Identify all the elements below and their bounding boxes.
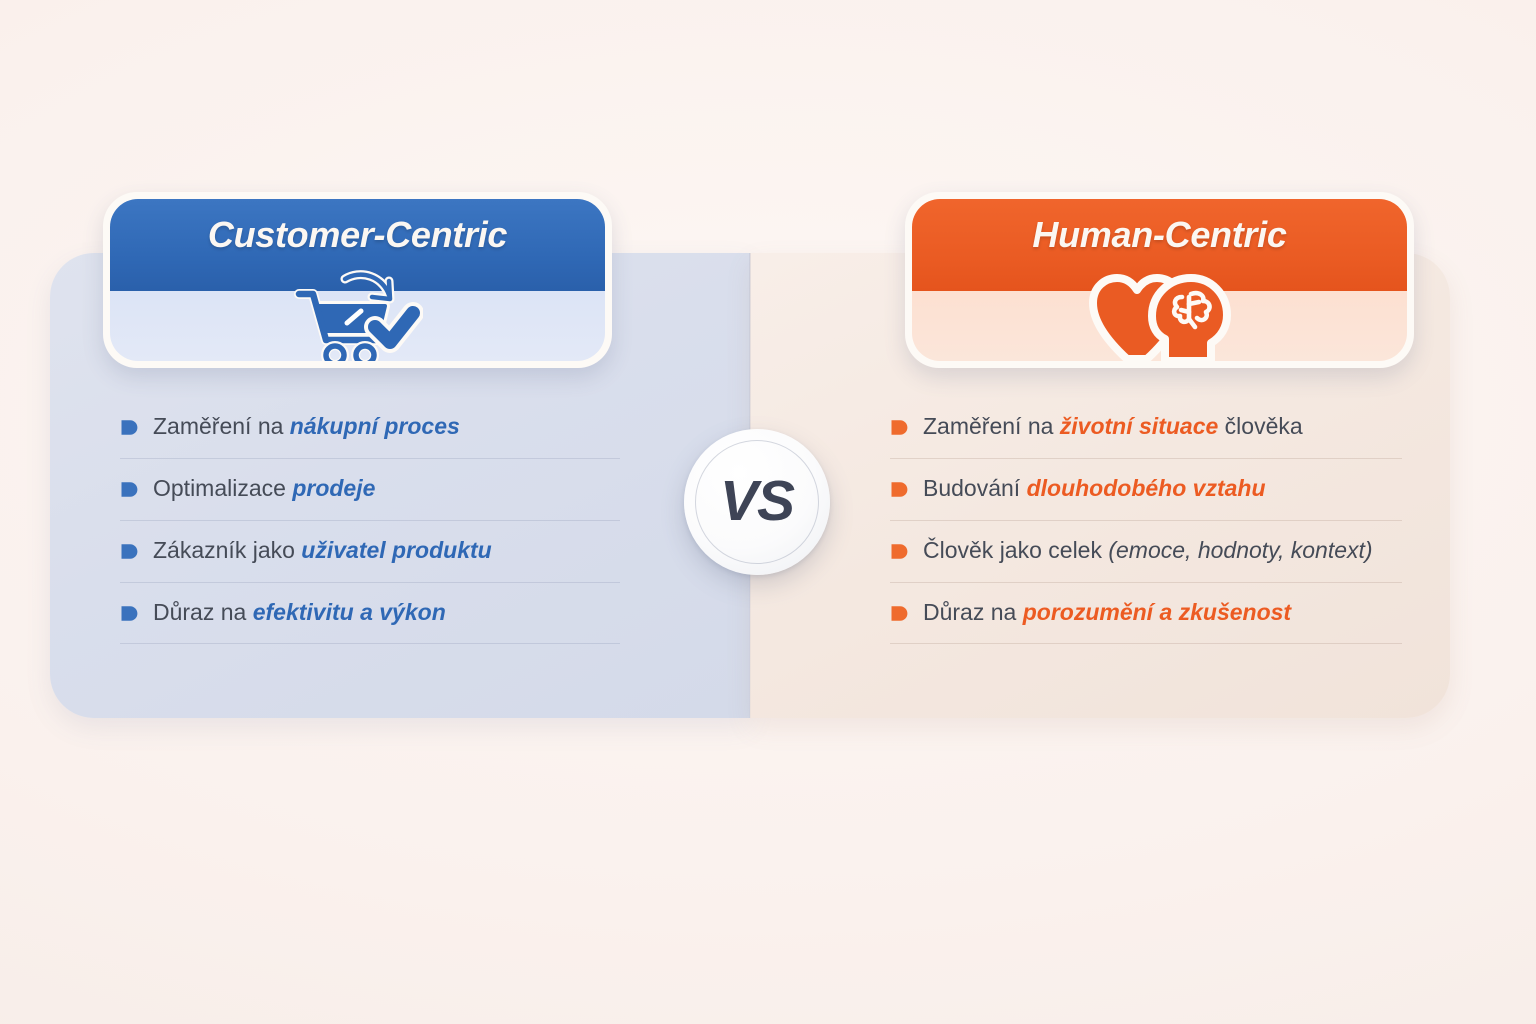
list-item: Důraz na efektivitu a výkon [120,582,620,644]
list-item-text: Zaměření na životní situace člověka [923,413,1303,441]
vs-label: VS [720,468,794,534]
list-item-text: Optimalizace prodeje [153,475,375,503]
list-item: Důraz na porozumění a zkušenost [890,582,1402,644]
bullet-arrow-icon [120,604,139,623]
bullet-arrow-icon [890,480,909,499]
shopping-cart-check-icon [110,261,605,361]
list-item: Člověk jako celek (emoce, hodnoty, konte… [890,520,1402,582]
bullet-arrow-icon [890,542,909,561]
list-item: Zákazník jako uživatel produktu [120,520,620,582]
list-item-text: Zákazník jako uživatel produktu [153,537,492,565]
right-feature-list: Zaměření na životní situace člověka Budo… [890,396,1402,644]
list-item-text: Důraz na porozumění a zkušenost [923,599,1291,627]
bullet-arrow-icon [120,542,139,561]
comparison-infographic: Customer-Centric [0,0,1536,1024]
left-card-title: Customer-Centric [110,214,605,256]
list-item: Optimalizace prodeje [120,458,620,520]
heart-and-brain-head-icon [912,261,1407,361]
list-item-text: Zaměření na nákupní proces [153,413,460,441]
left-header-card: Customer-Centric [103,192,612,368]
bullet-arrow-icon [890,604,909,623]
list-item: Budování dlouhodobého vztahu [890,458,1402,520]
bullet-arrow-icon [120,480,139,499]
right-header-card: Human-Centric [905,192,1414,368]
list-item-text: Důraz na efektivitu a výkon [153,599,446,627]
list-item-text: Budování dlouhodobého vztahu [923,475,1266,503]
bullet-arrow-icon [120,418,139,437]
right-card-title: Human-Centric [912,214,1407,256]
left-feature-list: Zaměření na nákupní proces Optimalizace … [120,396,620,644]
list-item-text: Člověk jako celek (emoce, hodnoty, konte… [923,537,1373,565]
bullet-arrow-icon [890,418,909,437]
list-item: Zaměření na životní situace člověka [890,396,1402,458]
vs-badge: VS [684,429,830,575]
list-item: Zaměření na nákupní proces [120,396,620,458]
